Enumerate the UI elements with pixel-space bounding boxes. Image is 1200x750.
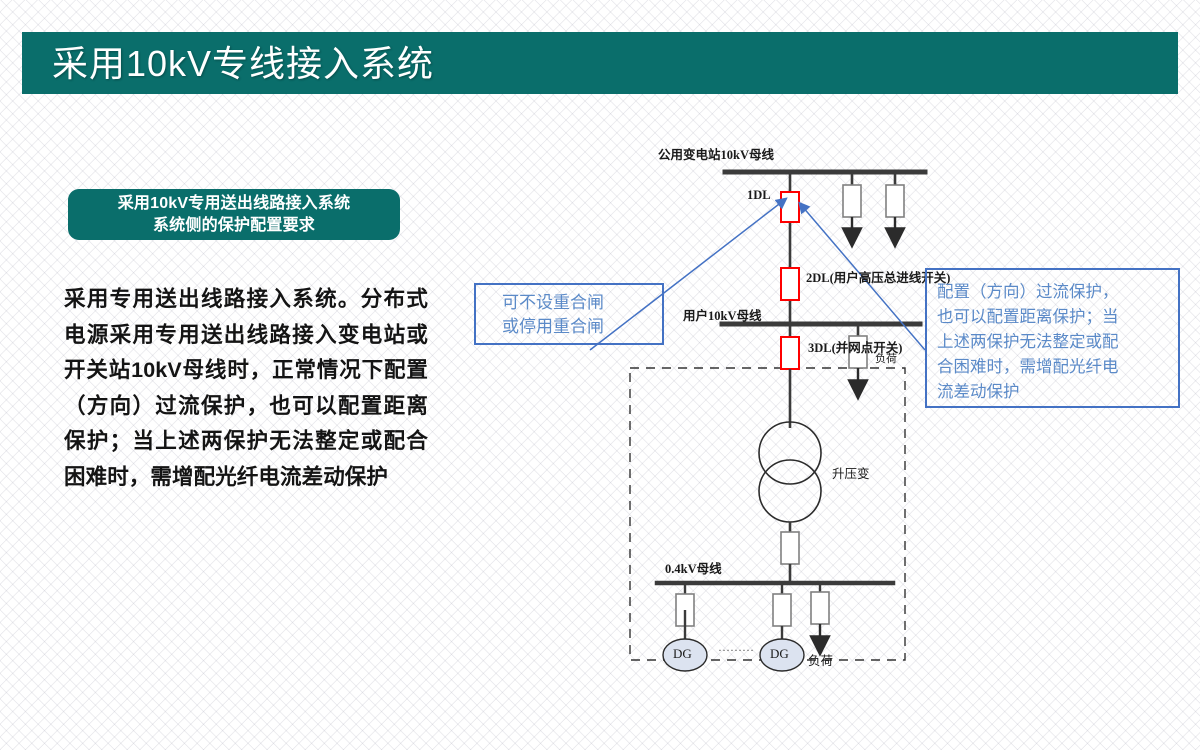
- callout-right-line-4: 合困难时，需增配光纤电: [937, 355, 1178, 380]
- label-dg-1: DG: [673, 646, 692, 662]
- label-user-bus: 用户10kV母线: [683, 305, 761, 324]
- diagram-svg: [470, 128, 1200, 688]
- lv-main-breaker: [781, 532, 799, 564]
- label-transformer: 升压变: [832, 463, 870, 482]
- body-paragraph: 采用专用送出线路接入系统。分布式电源采用专用送出线路接入变电站或开关站10kV母…: [64, 282, 428, 495]
- callout-right-line-1: 配置（方向）过流保护，: [937, 280, 1178, 305]
- transformer-winding-lv: [759, 460, 821, 522]
- label-dg-2: DG: [770, 646, 789, 662]
- lv-load-breaker: [811, 592, 829, 624]
- breaker-2dl-symbol: [781, 268, 799, 300]
- transformer-winding-hv: [759, 422, 821, 484]
- badge-line-1: 采用10kV专用送出线路接入系统: [118, 193, 351, 215]
- label-load-upper: 负荷: [875, 350, 897, 366]
- callout-right-line-2: 也可以配置距离保护；当: [937, 305, 1178, 330]
- feeder-branch-1-breaker: [843, 185, 861, 217]
- page-title: 采用10kV专线接入系统: [52, 36, 1152, 92]
- label-ellipsis: ………: [718, 640, 754, 655]
- feeder-branch-2-breaker: [886, 185, 904, 217]
- dg2-breaker: [773, 594, 791, 626]
- callout-right-line-3: 上述两保护无法整定或配: [937, 330, 1178, 355]
- dg-plant-boundary: [630, 368, 905, 660]
- label-lv-bus: 0.4kV母线: [665, 558, 722, 577]
- callout-right: 配置（方向）过流保护， 也可以配置距离保护；当 上述两保护无法整定或配 合困难时…: [925, 268, 1180, 408]
- breaker-1dl-symbol: [781, 192, 799, 222]
- callout-left: 可不设重合闸 或停用重合闸: [474, 283, 664, 345]
- callout-left-line-1: 可不设重合闸: [502, 291, 662, 315]
- callout-right-line-5: 流差动保护: [937, 380, 1178, 405]
- label-public-bus: 公用变电站10kV母线: [658, 144, 774, 163]
- badge-line-2: 系统侧的保护配置要求: [153, 215, 315, 237]
- section-badge: 采用10kV专用送出线路接入系统 系统侧的保护配置要求: [68, 189, 400, 240]
- breaker-3dl-symbol: [781, 337, 799, 369]
- label-load-lower: 负荷: [808, 650, 833, 669]
- label-breaker-1dl: 1DL: [747, 188, 771, 203]
- single-line-diagram: 公用变电站10kV母线 1DL 2DL(用户高压总进线开关) 用户10kV母线 …: [470, 128, 1200, 688]
- callout-left-line-2: 或停用重合闸: [502, 315, 662, 339]
